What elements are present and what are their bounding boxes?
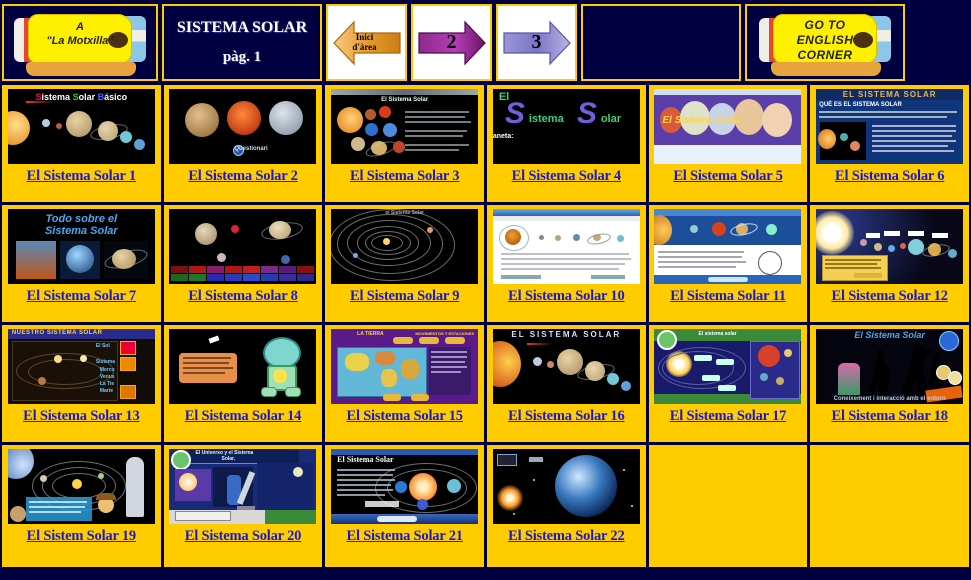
english-corner-line3: CORNER (797, 48, 852, 62)
backpack-logo-cell[interactable]: A "La Motxilla" (2, 4, 158, 81)
link-cell[interactable]: El S istema S olar aneta: El Sistema Sol… (487, 85, 646, 202)
page-root: A "La Motxilla" SISTEMA SOLAR pàg. 1 (0, 0, 971, 580)
item-label[interactable]: El Sistem Solar 19 (27, 528, 136, 545)
backpack-logo-line2: "La Motxilla" (46, 35, 113, 47)
item-label[interactable]: El Sistema Solar 13 (23, 408, 139, 425)
thumbnail-image[interactable]: NUESTRO SISTEMA SOLAR El Sol Sistema Mer… (7, 328, 156, 405)
item-label[interactable]: El Sistema Solar 10 (508, 288, 624, 305)
link-cell[interactable]: El Sistema Solar Coneixement i interacci… (810, 325, 969, 442)
inici-darea-label: Inicid'àrea (332, 16, 402, 70)
link-cell[interactable]: El Sistem Solar 19 (2, 445, 161, 567)
link-cell[interactable]: El Sistema Solar El Sistema Solar 5 (649, 85, 808, 202)
link-cell[interactable]: El Universo y el Sistema Solar. El Siste… (164, 445, 323, 567)
link-cell[interactable]: El Sistema Solar El Sistema Solar 3 (325, 85, 484, 202)
thumbnail-image[interactable] (492, 208, 641, 285)
page-3-label: 3 (502, 16, 572, 70)
thumbnail-image[interactable]: Todo sobre el Sistema Solar (7, 208, 156, 285)
thumbnail-image[interactable]: EL SISTEMA SOLAR QUÉ ES EL SISTEMA SOLAR (815, 88, 964, 165)
link-cell[interactable]: El Sistema Solar 10 (487, 205, 646, 322)
item-label[interactable]: El Sistema Solar 15 (346, 408, 462, 425)
item-label[interactable]: El Sistema Solar 11 (670, 288, 786, 305)
backpack-base-icon (771, 62, 881, 76)
thumbnail-image[interactable]: El sistema solar (653, 328, 802, 405)
link-cell[interactable]: el Sistema Solar El Sistema Solar 9 (325, 205, 484, 322)
thumbnail-image[interactable]: El Universo y el Sistema Solar. (168, 448, 317, 525)
item-label[interactable]: El Sistema Solar 2 (188, 168, 297, 185)
item-label[interactable]: El Sistema Solar 1 (27, 168, 136, 185)
link-cell[interactable]: Todo sobre el Sistema Solar El Sistema S… (2, 205, 161, 322)
thumbnail-image[interactable] (653, 208, 802, 285)
page-2-button[interactable]: 2 (411, 4, 492, 81)
page-3-button[interactable]: 3 (496, 4, 577, 81)
left-arrow-icon: Inicid'àrea (332, 16, 402, 70)
item-label[interactable]: El Sistema Solar 7 (27, 288, 136, 305)
thumbnail-image[interactable]: El Sistema Solar (330, 88, 479, 165)
page-2-label: 2 (417, 16, 487, 70)
thumbnail-image[interactable]: el Sistema Solar (330, 208, 479, 285)
item-label[interactable]: El Sistema Solar 17 (670, 408, 786, 425)
link-cell[interactable]: El Sistema Solar 11 (649, 205, 808, 322)
link-cell[interactable]: Sistema Solar Básico El Sistema Solar 1 (2, 85, 161, 202)
item-label[interactable]: El Sistema Solar 21 (346, 528, 462, 545)
right-arrow-icon: 2 (417, 16, 487, 70)
thumbnail-image[interactable]: EL SISTEMA SOLAR (492, 328, 641, 405)
item-label[interactable]: El Sistema Solar 12 (831, 288, 947, 305)
link-cell[interactable]: El Sistema Solar 14 (164, 325, 323, 442)
item-label[interactable]: El Sistema Solar 14 (185, 408, 301, 425)
thumbnail-image[interactable]: El Sistema Solar Coneixement i interacci… (815, 328, 964, 405)
link-cell[interactable]: El Sistema Solar 12 (810, 205, 969, 322)
page-title-main: SISTEMA SOLAR (177, 13, 307, 43)
thumbnail-image[interactable]: Sistema Solar Básico (7, 88, 156, 165)
thumbnail-image[interactable] (168, 208, 317, 285)
thumbnail-image[interactable]: LA TIERRA MOVIMIENTOS Y ESTACIONES (330, 328, 479, 405)
thumbnail-image[interactable] (168, 328, 317, 405)
link-cell[interactable]: El sistema solar El Sistema Solar 17 (649, 325, 808, 442)
header-empty-cell (581, 4, 741, 81)
item-label[interactable]: El Sistema Solar 22 (508, 528, 624, 545)
item-label[interactable]: El Sistema Solar 18 (831, 408, 947, 425)
thumbnail-image[interactable] (492, 448, 641, 525)
page-title-sub: pàg. 1 (177, 43, 307, 72)
link-cell[interactable]: LA TIERRA MOVIMIENTOS Y ESTACIONES (325, 325, 484, 442)
right-arrow-icon: 3 (502, 16, 572, 70)
item-label[interactable]: El Sistema Solar 9 (350, 288, 459, 305)
inici-darea-button[interactable]: Inicid'àrea (326, 4, 407, 81)
link-cell[interactable]: EL SISTEMA SOLAR El Sistema Solar 16 (487, 325, 646, 442)
link-cell[interactable]: El Sistema Solar 22 (487, 445, 646, 567)
english-corner-text: GO TO ENGLISH CORNER (755, 18, 895, 63)
backpack-base-icon (26, 62, 136, 76)
thumbnail-image[interactable] (7, 448, 156, 525)
backpack-logo-text: A "La Motxilla" (10, 20, 150, 50)
thumbnail-image[interactable]: Qüestionari (168, 88, 317, 165)
thumbnail-image[interactable] (815, 208, 964, 285)
item-label[interactable]: El Sistema Solar 16 (508, 408, 624, 425)
item-label[interactable]: El Sistema Solar 6 (835, 168, 944, 185)
link-cell[interactable]: NUESTRO SISTEMA SOLAR El Sol Sistema Mer… (2, 325, 161, 442)
header-bar: A "La Motxilla" SISTEMA SOLAR pàg. 1 (0, 0, 971, 85)
item-label[interactable]: El Sistema Solar 4 (512, 168, 621, 185)
thumbnail-image[interactable]: El Sistema Solar (330, 448, 479, 525)
item-label[interactable]: El Sistema Solar 20 (185, 528, 301, 545)
link-cell[interactable]: El Sistema Solar 8 (164, 205, 323, 322)
item-label[interactable]: El Sistema Solar 8 (188, 288, 297, 305)
english-corner-line1: GO TO (805, 18, 846, 32)
english-corner-line2: ENGLISH (797, 33, 854, 47)
thumbnail-image[interactable]: El Sistema Solar (653, 88, 802, 165)
page-title-cell: SISTEMA SOLAR pàg. 1 (162, 4, 322, 81)
empty-cell (810, 445, 969, 567)
page-title: SISTEMA SOLAR pàg. 1 (177, 13, 307, 72)
backpack-logo-line1: A (76, 21, 84, 33)
item-label[interactable]: El Sistema Solar 3 (350, 168, 459, 185)
backpack-logo: A "La Motxilla" (10, 10, 150, 76)
english-corner-logo: GO TO ENGLISH CORNER (755, 10, 895, 76)
english-corner-logo-cell[interactable]: GO TO ENGLISH CORNER (745, 4, 905, 81)
link-cell[interactable]: EL SISTEMA SOLAR QUÉ ES EL SISTEMA SOLAR… (810, 85, 969, 202)
link-cell[interactable]: El Sistema Solar El Sistema Solar 21 (325, 445, 484, 567)
empty-cell (649, 445, 808, 567)
thumbnail-image[interactable]: El S istema S olar aneta: (492, 88, 641, 165)
item-label[interactable]: El Sistema Solar 5 (673, 168, 782, 185)
link-cell[interactable]: Qüestionari El Sistema Solar 2 (164, 85, 323, 202)
thumbnail-grid: Sistema Solar Básico El Sistema Solar 1 (0, 85, 971, 567)
